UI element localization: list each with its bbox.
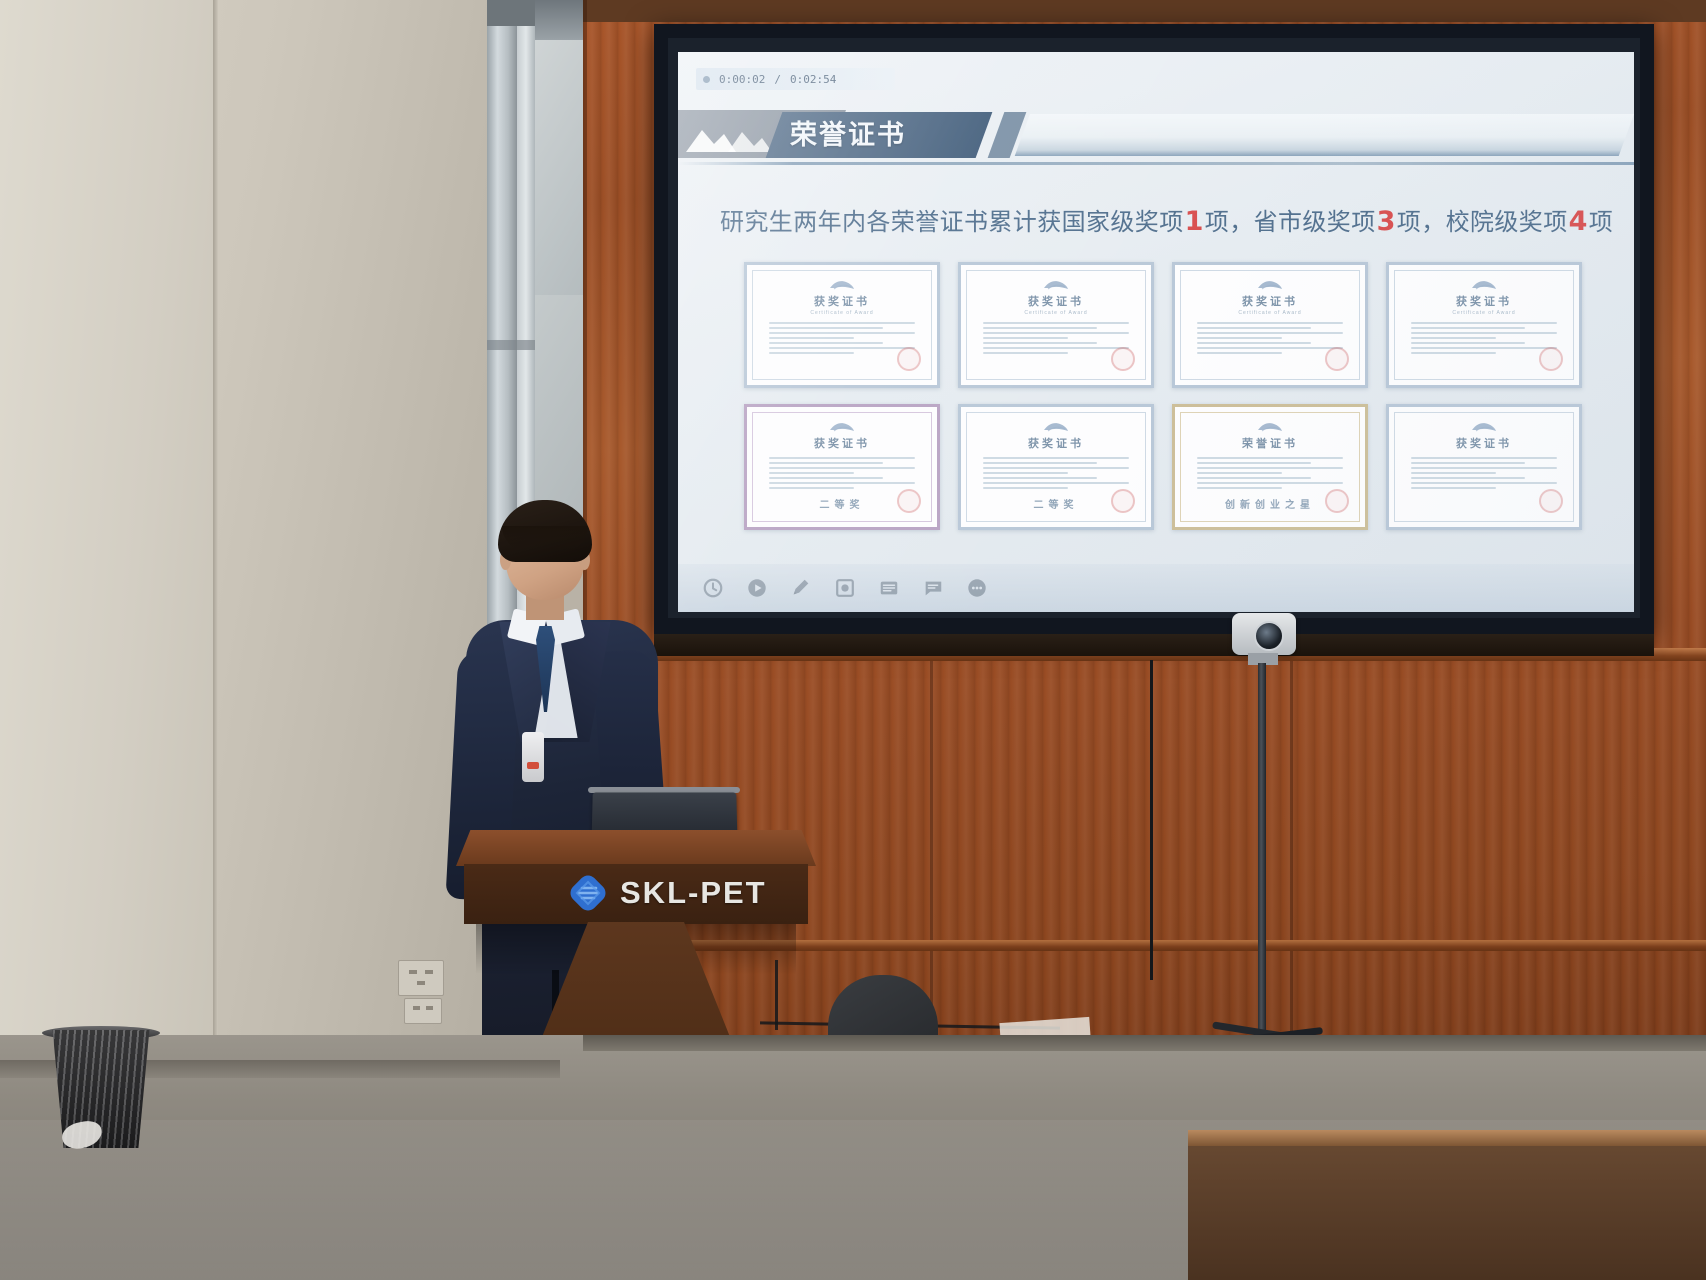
bird-emblem-icon (1257, 279, 1283, 291)
body-count-school: 4 (1568, 206, 1589, 237)
certificate-award-level: 二等奖 (820, 496, 865, 511)
presentation-timer: 0:00:02 / 0:02:54 (696, 68, 895, 90)
bird-emblem-icon (1471, 421, 1497, 433)
certificate-seal-icon (1539, 489, 1563, 513)
timer-icon[interactable] (702, 577, 724, 599)
bird-emblem-icon (1043, 279, 1069, 291)
certificate-seal-icon (1111, 347, 1135, 371)
certificate-body: 获奖证书Certificate of Award (752, 270, 932, 380)
bird-emblem-icon (1043, 421, 1069, 433)
side-desk-top (1188, 1130, 1706, 1146)
certificate-subtitle: Certificate of Award (1024, 310, 1087, 316)
body-count-national: 1 (1184, 206, 1205, 237)
powerpoint-toolbar[interactable] (678, 564, 1634, 612)
timer-separator: / (774, 73, 781, 86)
certificate-thumbnail: 获奖证书二等奖 (744, 404, 940, 530)
certificate-body: 获奖证书Certificate of Award (966, 270, 1146, 380)
glass-joint-upper (487, 340, 535, 350)
certificate-seal-icon (1539, 347, 1563, 371)
certificate-title: 获奖证书 (814, 435, 870, 451)
floor-edge-right (583, 1035, 1706, 1051)
certificate-title: 获奖证书 (814, 293, 870, 309)
certificate-thumbnail: 获奖证书Certificate of Award (1172, 262, 1368, 388)
certificate-title: 获奖证书 (1456, 293, 1512, 309)
presentation-room-photo: 0:00:02 / 0:02:54 荣誉证书 研究生两年内各荣誉证书累计获国家级… (0, 0, 1706, 1280)
bird-emblem-icon (829, 421, 855, 433)
pen-icon[interactable] (790, 577, 812, 599)
certificate-seal-icon (897, 347, 921, 371)
skl-pet-logo-icon (568, 873, 608, 913)
timer-elapsed: 0:00:02 (719, 73, 765, 86)
body-part-4: 项，校院级奖项 (1397, 208, 1568, 236)
wall-top-trim (583, 0, 1706, 22)
certificate-subtitle: Certificate of Award (810, 310, 873, 316)
certificate-body: 获奖证书Certificate of Award (1394, 270, 1574, 380)
certificate-thumbnail: 获奖证书 (1386, 404, 1582, 530)
play-icon[interactable] (746, 577, 768, 599)
certificate-thumbnail: 荣誉证书创新创业之星 (1172, 404, 1368, 530)
certificate-title: 获奖证书 (1028, 293, 1084, 309)
camera-cable-vertical (1150, 660, 1263, 980)
certificate-thumbnail: 获奖证书Certificate of Award (1386, 262, 1582, 388)
camera-lens-icon (1254, 621, 1284, 651)
certificate-text-lines (1411, 457, 1557, 489)
wood-seam (1290, 660, 1293, 1035)
body-part-6: 项 (1589, 208, 1613, 236)
certificate-thumbnail: 获奖证书二等奖 (958, 404, 1154, 530)
certificate-text-lines (983, 457, 1129, 489)
bird-emblem-icon (829, 279, 855, 291)
certificate-body: 获奖证书 (1394, 412, 1574, 522)
slide-header: 荣誉证书 (678, 110, 1634, 166)
wall-outlet-lower[interactable] (404, 998, 442, 1024)
body-count-provincial: 3 (1376, 206, 1397, 237)
lectern-desktop (456, 830, 816, 866)
glass-header-band (487, 0, 535, 26)
timer-total: 0:02:54 (790, 73, 836, 86)
certificate-body: 荣誉证书创新创业之星 (1180, 412, 1360, 522)
wood-seam (930, 660, 933, 1035)
certificate-body: 获奖证书二等奖 (966, 412, 1146, 522)
left-wall-panel (0, 0, 217, 1060)
certificate-title: 获奖证书 (1456, 435, 1512, 451)
certificate-seal-icon (1325, 489, 1349, 513)
body-part-2: 项，省市级奖项 (1205, 208, 1376, 236)
certificate-text-lines (769, 457, 915, 489)
certificate-text-lines (1197, 322, 1343, 354)
hair-fringe (502, 526, 588, 552)
mountain-logo-icon (684, 124, 774, 154)
header-underline (678, 162, 1634, 165)
certificate-award-level: 二等奖 (1034, 496, 1079, 511)
side-desk (1188, 1130, 1706, 1280)
certificate-text-lines (1411, 322, 1557, 354)
certificate-grid: 获奖证书Certificate of Award获奖证书Certificate … (744, 262, 1582, 530)
certificate-seal-icon (1111, 489, 1135, 513)
certificate-seal-icon (1325, 347, 1349, 371)
timer-dot-icon (703, 76, 710, 83)
certificate-text-lines (1197, 457, 1343, 489)
certificate-text-lines (983, 322, 1129, 354)
certificate-title: 获奖证书 (1028, 435, 1084, 451)
body-part-0: 研究生两年内各荣誉证书累计获国家级奖项 (720, 208, 1184, 236)
certificate-subtitle: Certificate of Award (1452, 310, 1515, 316)
certificate-title: 荣誉证书 (1242, 435, 1298, 451)
laser-pointer-icon[interactable] (834, 577, 856, 599)
certificate-thumbnail: 获奖证书Certificate of Award (744, 262, 940, 388)
certificate-title: 获奖证书 (1242, 293, 1298, 309)
more-options-icon[interactable] (966, 577, 988, 599)
certificate-body: 获奖证书二等奖 (752, 412, 932, 522)
comment-icon[interactable] (922, 577, 944, 599)
certificate-seal-icon (897, 489, 921, 513)
certificate-award-level: 创新创业之星 (1225, 496, 1315, 511)
slide-notes-icon[interactable] (878, 577, 900, 599)
presentation-clicker[interactable] (522, 732, 544, 782)
presentation-slide[interactable]: 0:00:02 / 0:02:54 荣誉证书 研究生两年内各荣誉证书累计获国家级… (678, 52, 1634, 612)
clicker-led-icon (527, 762, 539, 769)
slide-body-text: 研究生两年内各荣誉证书累计获国家级奖项1项，省市级奖项3项，校院级奖项4项 (720, 202, 1608, 237)
certificate-thumbnail: 获奖证书Certificate of Award (958, 262, 1154, 388)
lectern-plate-text: SKL-PET (620, 875, 767, 911)
lectern-nameplate: SKL-PET (568, 868, 818, 918)
certificate-text-lines (769, 322, 915, 354)
wall-seam (213, 0, 218, 1060)
wall-outlet-upper[interactable] (398, 960, 444, 996)
bird-emblem-icon (1471, 279, 1497, 291)
projection-screen[interactable]: 0:00:02 / 0:02:54 荣誉证书 研究生两年内各荣誉证书累计获国家级… (678, 52, 1634, 612)
certificate-subtitle: Certificate of Award (1238, 310, 1301, 316)
podium-cable (775, 960, 786, 1030)
screen-bottom-rail (654, 634, 1654, 656)
header-light-bar (1015, 114, 1634, 156)
bird-emblem-icon (1257, 421, 1283, 433)
slide-title: 荣誉证书 (790, 118, 980, 154)
certificate-body: 获奖证书Certificate of Award (1180, 270, 1360, 380)
